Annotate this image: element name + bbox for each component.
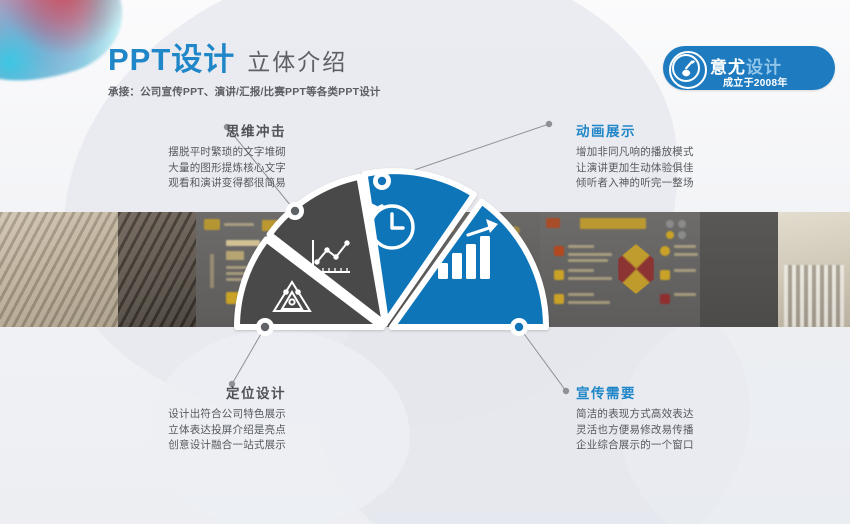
callout-heading: 思维冲击 <box>66 120 286 140</box>
callout-positioning-design: 定位设计 设计出符合公司特色展示 立体表达投屏介绍是亮点 创意设计融合一站式展示 <box>66 382 286 454</box>
callout-thinking-impact: 思维冲击 摆脱平时繁琐的文字堆砌 大量的图形提炼核心文字 观看和演讲变得都很简易 <box>66 120 286 192</box>
callout-heading: 定位设计 <box>66 382 286 402</box>
callout-heading: 动画展示 <box>576 120 796 140</box>
callout-line: 灵活也方便易修改易传播 <box>576 423 796 439</box>
callout-line: 立体表达投屏介绍是亮点 <box>66 423 286 439</box>
node-top-left-core <box>291 207 299 215</box>
callout-line: 大量的图形提炼核心文字 <box>66 161 286 177</box>
callout-line: 摆脱平时繁琐的文字堆砌 <box>66 145 286 161</box>
node-top-right-core <box>378 177 386 185</box>
callout-line: 观看和演讲变得都很简易 <box>66 176 286 192</box>
callout-line: 让演讲更加生动体验俱佳 <box>576 161 796 177</box>
callout-heading: 宣传需要 <box>576 382 796 402</box>
node-bottom-left-core <box>261 323 269 331</box>
callout-line: 企业综合展示的一个窗口 <box>576 438 796 454</box>
connector-bottom-left <box>232 327 265 384</box>
callout-line: 倾听者入神的听完一整场 <box>576 176 796 192</box>
callout-animation-display: 动画展示 增加非同凡响的播放模式 让演讲更加生动体验俱佳 倾听者入神的听完一整场 <box>576 120 796 192</box>
callout-promotion-need: 宣传需要 简洁的表现方式高效表达 灵活也方便易修改易传播 企业综合展示的一个窗口 <box>576 382 796 454</box>
callout-line: 简洁的表现方式高效表达 <box>576 407 796 423</box>
connector-bottom-right <box>519 327 566 391</box>
callout-line: 设计出符合公司特色展示 <box>66 407 286 423</box>
node-bottom-right-core <box>515 323 523 331</box>
callout-line: 创意设计融合一站式展示 <box>66 438 286 454</box>
endpoint-top-right <box>546 121 552 127</box>
endpoint-bottom-right <box>563 388 569 394</box>
slide-canvas: PPT设计 立体介绍 承接：公司宣传PPT、演讲/汇报/比赛PPT等各类PPT设… <box>0 0 850 524</box>
callout-line: 增加非同凡响的播放模式 <box>576 145 796 161</box>
